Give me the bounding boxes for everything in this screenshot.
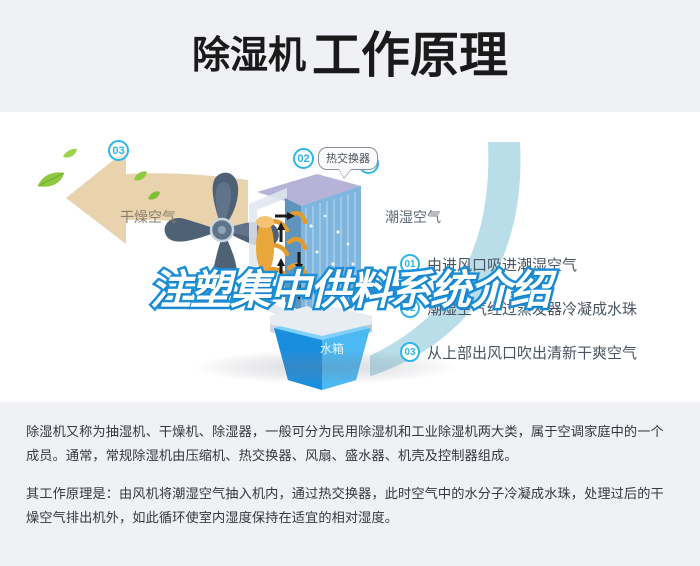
page-title: 除湿机 工作原理 (0, 0, 700, 112)
page-title-part2: 工作原理 (312, 32, 508, 81)
step-text: 从上部出风口吹出清新干爽空气 (427, 342, 637, 363)
description-paragraph-1: 除湿机又称为抽湿机、干燥机、除湿器，一般可分为民用除湿机和工业除湿机两大类，属于… (26, 420, 674, 468)
leaf-icon (62, 148, 78, 160)
step-number-badge: 01 (400, 254, 420, 274)
badge-heat-exchanger: 02 (293, 148, 314, 169)
badge-dry-air: 03 (108, 140, 129, 161)
working-principle-diagram: 水箱 03 02 01 热交换器 干燥空气 潮湿空气 01 由进风口吸进潮湿空气… (0, 112, 700, 402)
step-text: 潮湿空气经过蒸发器冷凝成水珠 (427, 298, 637, 319)
step-number-badge: 03 (400, 342, 420, 362)
leaf-icon (36, 170, 66, 190)
humid-air-label: 潮湿空气 (385, 207, 441, 227)
description-paragraph-2: 其工作原理是：由风机将潮湿空气抽入机内，通过热交换器，此时空气中的水分子冷凝成水… (26, 482, 674, 530)
description-text-block: 除湿机又称为抽湿机、干燥机、除湿器，一般可分为民用除湿机和工业除湿机两大类，属于… (0, 402, 700, 530)
page-title-part1: 除湿机 (192, 37, 306, 75)
principle-step-list: 01 由进风口吸进潮湿空气 02 潮湿空气经过蒸发器冷凝成水珠 03 从上部出风… (400, 247, 695, 379)
dry-air-label: 干燥空气 (120, 207, 176, 227)
leaf-icon (133, 170, 148, 183)
heat-exchanger-callout: 热交换器 (318, 147, 378, 170)
list-item: 03 从上部出风口吹出清新干爽空气 (400, 335, 695, 369)
step-text: 由进风口吸进潮湿空气 (427, 254, 577, 275)
list-item: 01 由进风口吸进潮湿空气 (400, 247, 695, 281)
leaf-icon (147, 190, 161, 202)
step-number-badge: 02 (400, 298, 420, 318)
list-item: 02 潮湿空气经过蒸发器冷凝成水珠 (400, 291, 695, 325)
